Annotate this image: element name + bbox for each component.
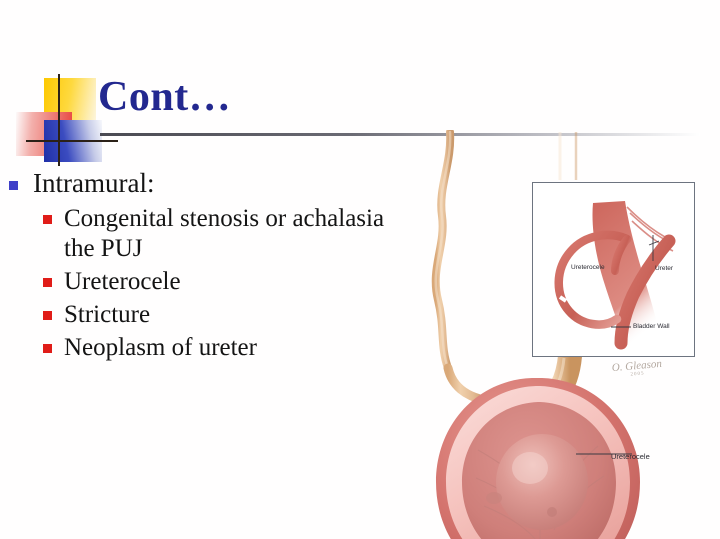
ureterocele-highlight — [512, 452, 548, 484]
list-item-label: Intramural: — [33, 168, 154, 198]
list-item: Neoplasm of ureter — [0, 333, 470, 363]
list-item-continuation: the PUJ — [64, 234, 470, 264]
list-item: Congenital stenosis or achalasia the PUJ — [0, 204, 470, 264]
bullet-square-red-icon — [43, 344, 52, 353]
contralateral-orifice — [486, 492, 502, 504]
bullet-square-red-icon — [43, 311, 52, 320]
inset-detail-panel: Ureterocele Ureter Bladder Wall — [532, 182, 695, 357]
logo-horizontal-rule — [26, 140, 118, 142]
list-item: Intramural: — [0, 168, 470, 200]
inset-label-ureterocele: Ureterocele — [571, 264, 605, 271]
page-title: Cont… — [98, 76, 231, 118]
list-item: Ureterocele — [0, 267, 470, 297]
list-item-label: Stricture — [64, 301, 150, 328]
inset-label-ureter: Ureter — [655, 265, 673, 272]
list-item: Stricture — [0, 300, 470, 330]
list-item-label: Congenital stenosis or achalasia — [64, 205, 384, 232]
list-item-label: Neoplasm of ureter — [64, 334, 257, 361]
ureteric-orifice — [547, 507, 557, 517]
inset-label-bladder-wall: Bladder Wall — [633, 323, 670, 330]
logo-vertical-rule — [58, 74, 60, 166]
left-ureter-entry — [448, 368, 484, 400]
bullet-square-red-icon — [43, 215, 52, 224]
list-item-label: Ureterocele — [64, 268, 181, 295]
ureterocele-bulge — [496, 434, 588, 530]
slide-title-area: Cont… — [0, 0, 720, 150]
slide-canvas: Cont… Intramural: Congenital stenosis or… — [0, 0, 720, 539]
content-bullet-list: Intramural: Congenital stenosis or achal… — [0, 168, 470, 366]
bullet-square-blue-icon — [9, 181, 18, 190]
illustration-label-ureterocele: Ureterocele — [611, 452, 650, 461]
bullet-square-red-icon — [43, 278, 52, 287]
